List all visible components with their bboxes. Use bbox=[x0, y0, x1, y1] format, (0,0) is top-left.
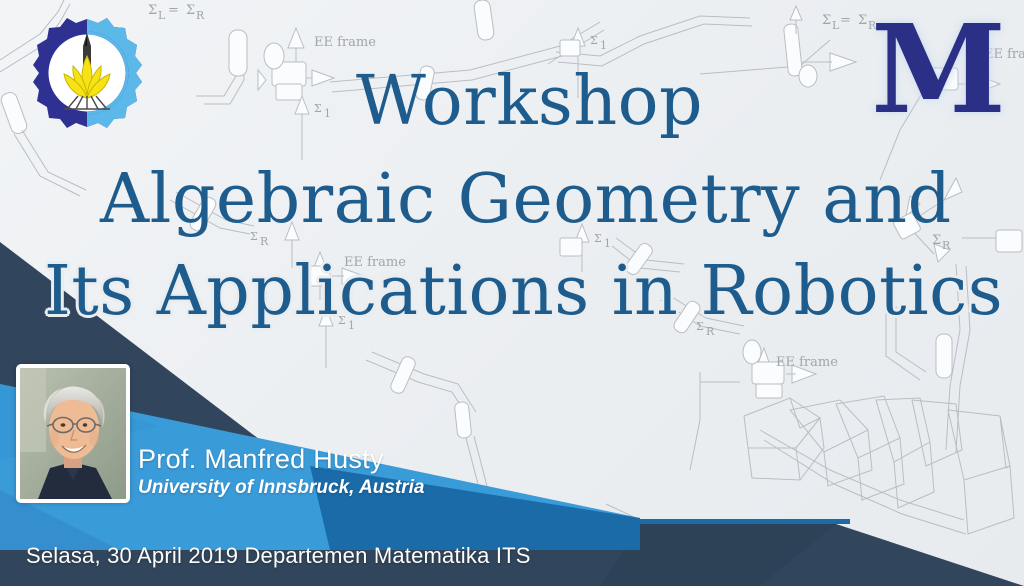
speaker-affiliation: University of Innsbruck, Austria bbox=[138, 477, 424, 499]
speaker-name: Prof. Manfred Husty bbox=[138, 444, 384, 475]
footer-text: Selasa, 30 April 2019 Departemen Matemat… bbox=[26, 543, 531, 569]
title-line-1: Workshop bbox=[356, 62, 703, 141]
title-line-3: Its Applications in Robotics bbox=[44, 252, 1003, 331]
workshop-poster: EE frame Σ 1 Σ 1 bbox=[0, 0, 1024, 586]
title-line-2: Algebraic Geometry and bbox=[100, 160, 952, 239]
